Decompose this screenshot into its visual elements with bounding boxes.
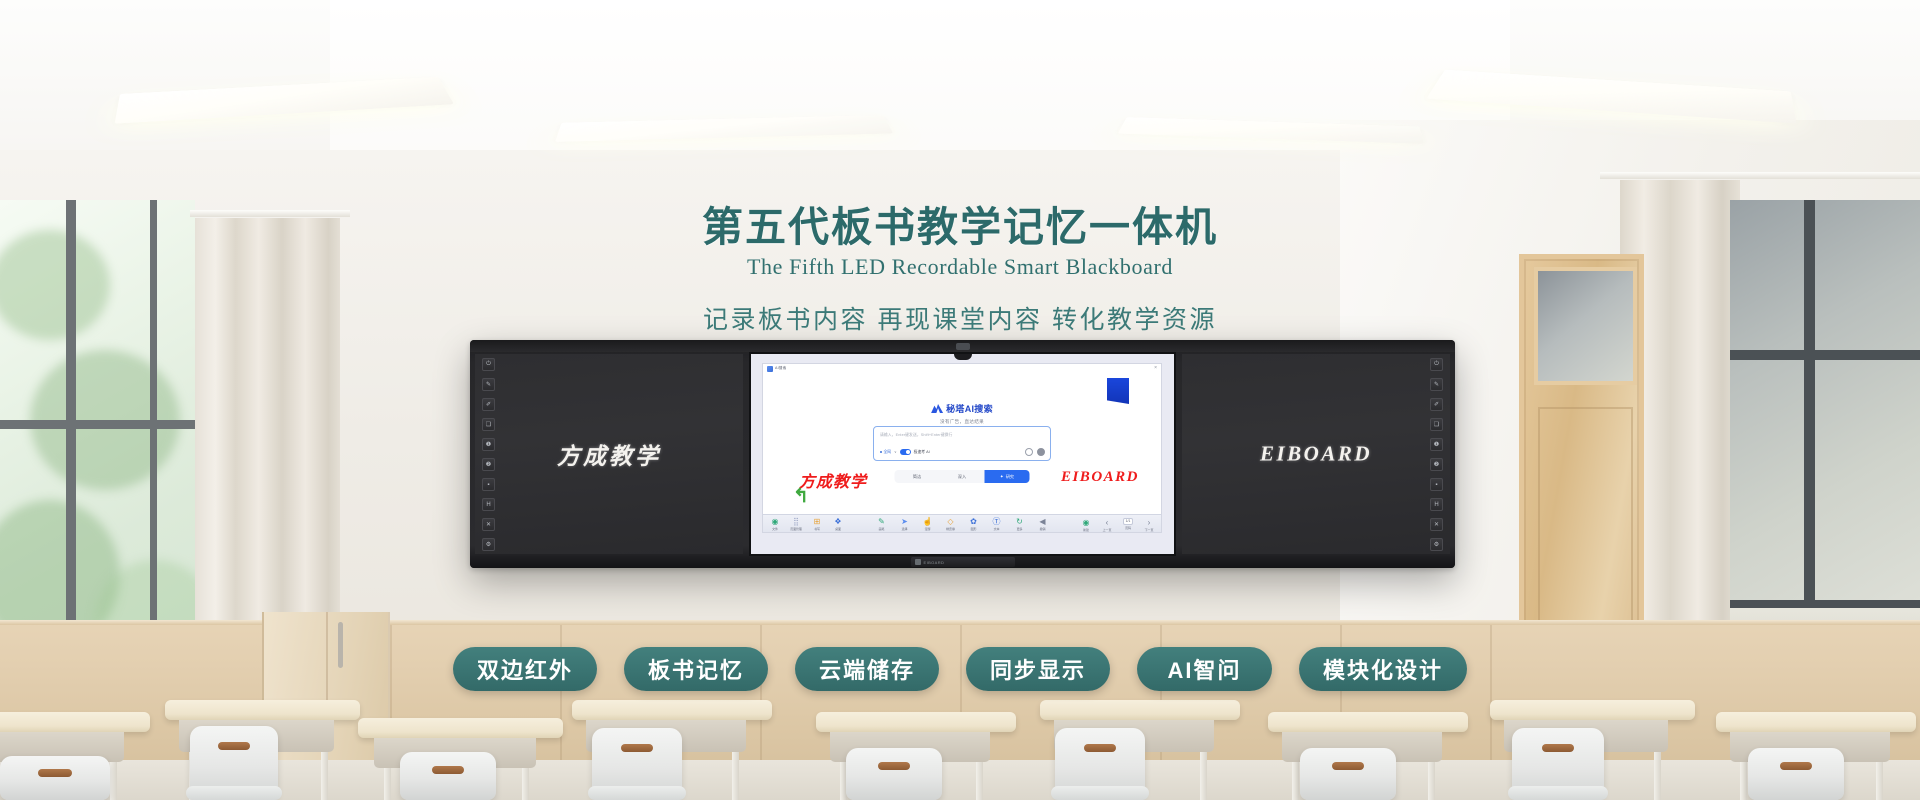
eraser-icon: ◇ [947,517,953,526]
dot-button[interactable]: ▪ [1430,478,1443,491]
headline-main: 第五代板书教学记忆一体机 [0,205,1920,251]
app-titlebar: AI搜索 × [763,364,1161,373]
file-label: 文件 [772,527,778,531]
text-label: 文本 [994,527,1000,531]
camera-icon [956,343,970,350]
scope-label: 全网 [884,450,892,455]
new-page-tool[interactable]: ◉ 新建 [1079,518,1093,532]
undo-tool[interactable]: ◀ 撤销 [1036,517,1050,531]
file-tool[interactable]: ◉ 文件 [768,517,782,531]
feature-pill-modular-design[interactable]: 模块化设计 [1299,647,1467,691]
mic-button[interactable]: ❶ [482,438,495,451]
page-number-value: 1/1 [1123,518,1134,525]
fast-ai-toggle[interactable] [900,449,911,455]
desktop-tool[interactable]: ❖ 桌面 [831,517,845,531]
whiteboard-app-canvas[interactable]: AI搜索 × 秘塔AI搜索 没有广告，直达结果 请输入，Enter键发送，Shi… [762,363,1162,533]
blackboard-left-panel[interactable]: 方成教学 [475,354,743,554]
feature-pill-ai-ask[interactable]: AI智问 [1137,647,1272,691]
page-manager-label: 页面管理 [790,527,802,531]
feature-pill-row: 双边红外 板书记忆 云端储存 同步显示 AI智问 模块化设计 [0,647,1920,691]
mic2-button[interactable]: ❷ [1430,458,1443,471]
blackboard-right-panel[interactable]: EIBOARD [1182,354,1450,554]
green-undo-stroke-icon: ↰ [793,487,809,506]
eraser-tool[interactable]: ◇ 橡皮擦 [944,517,958,531]
more-icon: ↻ [1016,517,1023,526]
toolbar-left-group[interactable]: ◉ 文件 ⣿ 页面管理 ⊞ 书写 ❖ 桌面 [768,517,845,531]
page-indicator[interactable]: 1/1 页码 [1121,518,1135,530]
next-page-label: 下一页 [1145,528,1154,532]
search-scope-selector[interactable]: 全网 [880,450,891,455]
sparkle-icon: ✦ [1000,474,1004,480]
undo-icon: ◀ [1039,517,1045,526]
interactive-display-screen[interactable]: AI搜索 × 秘塔AI搜索 没有广告，直达结果 请输入，Enter键发送，Shi… [751,354,1174,554]
feature-pill-sync-display[interactable]: 同步显示 [966,647,1110,691]
student-chair [0,756,110,800]
app-title: AI搜索 [775,366,786,371]
more-tool[interactable]: ↻ 更多 [1013,517,1027,531]
select-tool[interactable]: ➤ 选择 [898,517,912,531]
page-button[interactable]: ❏ [482,418,495,431]
roam-label: 漫游 [925,527,931,531]
mic-button[interactable]: ❶ [1430,438,1443,451]
mic2-button[interactable]: ❷ [482,458,495,471]
text-tool[interactable]: Ⓣ 文本 [990,517,1004,531]
chevron-down-icon[interactable]: ∨ [894,450,897,454]
student-chair [592,728,682,800]
search-mode-buttons[interactable]: 简洁 深入 ✦ 研究 [895,470,1030,483]
scope-dot-icon [880,451,882,453]
right-side-button-column[interactable]: ⏻ ✎ ✐ ❏ ❶ ❷ ▪ H ✕ ⚙ [1430,358,1443,551]
page-manager-tool[interactable]: ⣿ 页面管理 [789,517,803,531]
desktop-icon: ❖ [834,517,841,526]
brand-name: 秘塔AI搜索 [946,402,993,415]
red-ink-annotation-cn: 方成教学 [799,468,867,492]
write-icon: ⊞ [814,517,821,526]
screen-sensor-notch [954,354,972,360]
desktop-label: 桌面 [835,527,841,531]
student-chair [190,726,278,800]
app-icon [767,366,773,372]
smart-blackboard[interactable]: 方成教学 EIBOARD ⏻ ✎ ✐ ❏ ❶ ❷ ▪ H ✕ ⚙ ⏻ ✎ ✐ ❏… [470,340,1455,568]
undo-label: 撤销 [1040,527,1046,531]
search-input-box[interactable]: 请输入，Enter键发送，Shift+Enter键换行 全网 ∨ 极速考 AI [873,426,1051,461]
mode-deep-button[interactable]: 深入 [940,470,985,483]
next-page-tool[interactable]: › 下一页 [1142,518,1156,532]
page-button[interactable]: ❏ [1430,418,1443,431]
blue-flag-shape [1107,378,1129,404]
app-bottom-toolbar[interactable]: ◉ 文件 ⣿ 页面管理 ⊞ 书写 ❖ 桌面 [763,514,1161,532]
camera-icon[interactable] [1025,448,1033,456]
settings-button[interactable]: ⚙ [482,538,495,551]
hero-headline: 第五代板书教学记忆一体机 The Fifth LED Recordable Sm… [0,205,1920,336]
student-chair [400,752,496,800]
text-icon: Ⓣ [993,517,1001,526]
file-icon: ◉ [772,517,779,526]
new-page-icon: ◉ [1083,518,1090,527]
student-chair [1748,748,1844,800]
student-chair [1055,728,1145,800]
roam-tool[interactable]: ☝ 漫游 [921,517,935,531]
pen2-button[interactable]: ✐ [1430,398,1443,411]
board-bottom-bezel: EIBOARD [470,556,1455,568]
hand-icon: ☝ [923,517,933,526]
feature-pill-dual-infrared[interactable]: 双边红外 [453,647,597,691]
curtain-rod [1600,172,1920,179]
grid-icon: ⣿ [793,517,799,526]
select-label: 选择 [902,527,908,531]
left-chalk-text: 方成教学 [557,437,661,471]
red-ink-annotation-en: EIBOARD [1061,469,1139,486]
mode-research-button[interactable]: ✦ 研究 [985,470,1030,483]
mode-research-label: 研究 [1006,474,1014,480]
dot-button[interactable]: ▪ [482,478,495,491]
shape-icon: ✿ [970,517,977,526]
pen-label: 画笔 [879,527,885,531]
power-button[interactable]: ⏻ [482,358,495,371]
student-chair [1300,748,1396,800]
hdmi-button[interactable]: H [482,498,495,511]
feature-pill-cloud-storage[interactable]: 云端储存 [795,647,939,691]
fast-ai-label: 极速考 AI [914,450,930,455]
mode-concise-button[interactable]: 简洁 [895,470,940,483]
more-label: 更多 [1017,527,1023,531]
metaso-logo-icon [931,404,943,413]
right-chalk-text: EIBOARD [1260,442,1372,467]
feature-pill-board-memory[interactable]: 板书记忆 [624,647,768,691]
left-side-button-column[interactable]: ⏻ ✎ ✐ ❏ ❶ ❷ ▪ H ✕ ⚙ [482,358,495,551]
pen2-button[interactable]: ✐ [482,398,495,411]
brand-tagline: 没有广告，直达结果 [763,419,1161,425]
pen-button[interactable]: ✎ [482,378,495,391]
chevron-right-icon: › [1148,518,1151,527]
pen-icon: ✎ [878,517,885,526]
metaso-brand-block: 秘塔AI搜索 没有广告，直达结果 [763,402,1161,425]
headline-subtitle: The Fifth LED Recordable Smart Blackboar… [0,254,1920,280]
shape-label: 图形 [971,527,977,531]
close-icon[interactable]: × [1154,366,1157,371]
toolbar-center-group[interactable]: ✎ 画笔 ➤ 选择 ☝ 漫游 ◇ 橡皮擦 [875,517,1050,531]
eraser-label: 橡皮擦 [946,527,955,531]
close-button[interactable]: ✕ [482,518,495,531]
close-button[interactable]: ✕ [1430,518,1443,531]
pen-tool[interactable]: ✎ 画笔 [875,517,889,531]
settings-button[interactable]: ⚙ [1430,538,1443,551]
power-button[interactable]: ⏻ [1430,358,1443,371]
page-number-label: 页码 [1125,526,1131,530]
shape-tool[interactable]: ✿ 图形 [967,517,981,531]
student-chair [846,748,942,800]
new-page-label: 新建 [1083,528,1089,532]
hdmi-button[interactable]: H [1430,498,1443,511]
headline-tagline: 记录板书内容 再现课堂内容 转化教学资源 [0,300,1920,336]
search-placeholder: 请输入，Enter键发送，Shift+Enter键换行 [880,433,952,438]
cursor-icon: ➤ [901,517,908,526]
prev-page-label: 上一页 [1103,528,1112,532]
board-top-bezel [470,340,1455,352]
send-icon[interactable] [1037,448,1045,456]
toolbar-right-group[interactable]: ◉ 新建 ‹ 上一页 1/1 页码 › 下一页 [1079,518,1156,532]
pen-button[interactable]: ✎ [1430,378,1443,391]
student-chair [1512,728,1604,800]
write-label: 书写 [814,527,820,531]
board-brand-strip: EIBOARD [911,557,1015,567]
write-tool[interactable]: ⊞ 书写 [810,517,824,531]
prev-page-tool[interactable]: ‹ 上一页 [1100,518,1114,532]
chevron-left-icon: ‹ [1106,518,1109,527]
